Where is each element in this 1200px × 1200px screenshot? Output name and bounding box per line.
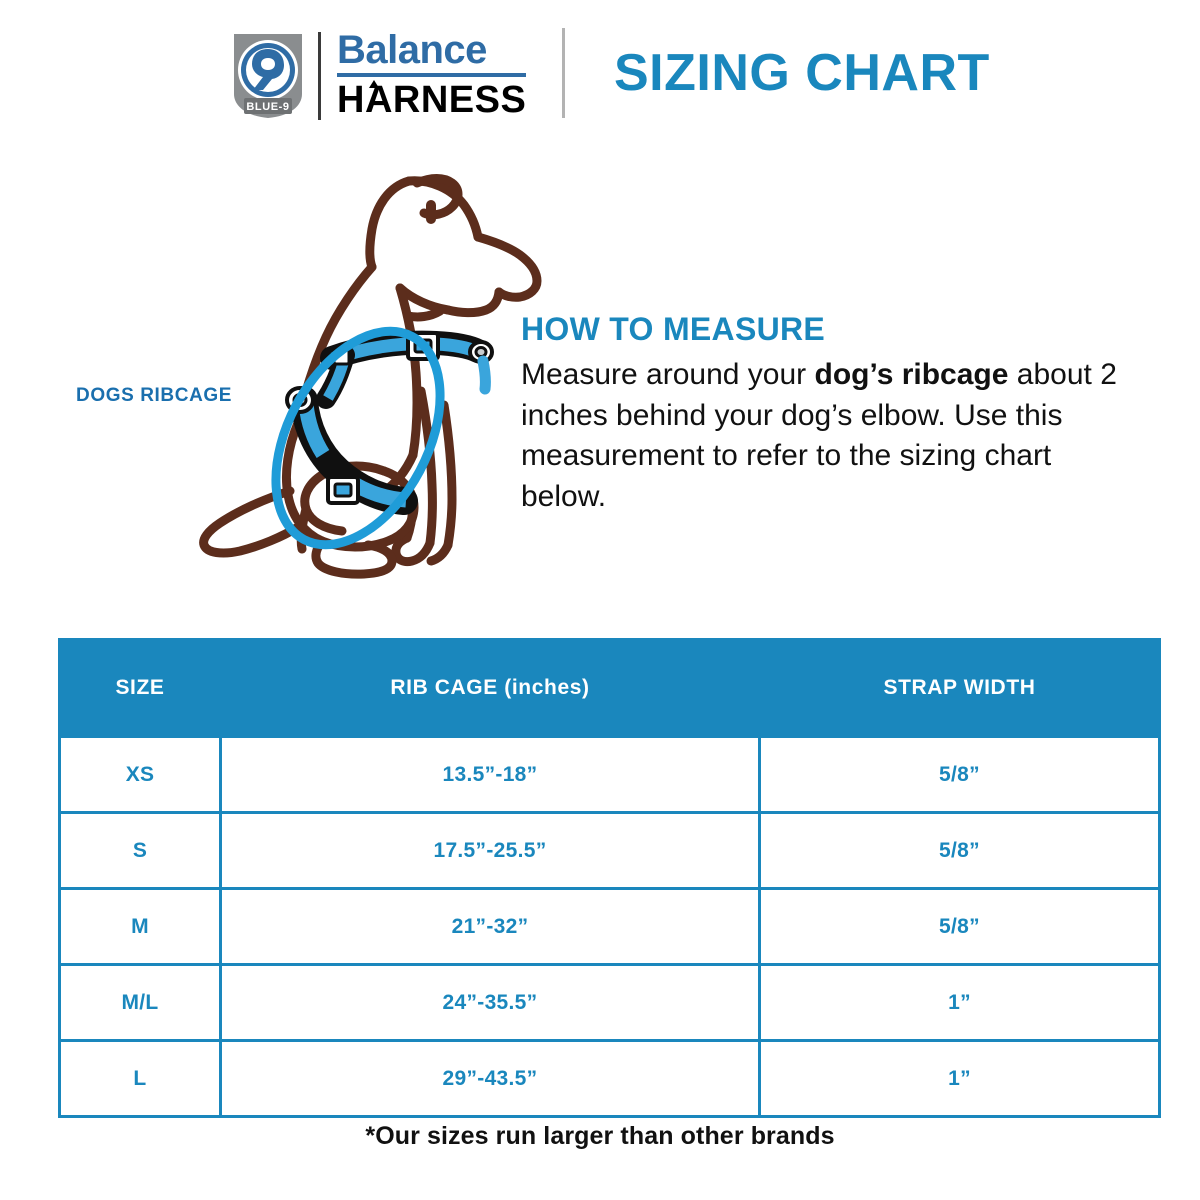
brand-wordmark: Balance HARNESS [337, 31, 526, 121]
how-to-measure-block: HOW TO MEASURE Measure around your dog’s… [521, 312, 1141, 517]
measure-line1-pre: Measure around your [521, 358, 815, 391]
cell-size: L [60, 1041, 221, 1117]
table-row: L 29”-43.5” 1” [60, 1041, 1160, 1117]
how-to-measure-body: Measure around your dog’s ribcage about … [521, 355, 1141, 517]
table-row: M/L 24”-35.5” 1” [60, 965, 1160, 1041]
cell-size: M/L [60, 965, 221, 1041]
header-divider [562, 28, 565, 118]
cell-rib-cage: 17.5”-25.5” [221, 813, 760, 889]
column-header-strap-width: STRAP WIDTH [760, 640, 1160, 737]
table-row: XS 13.5”-18” 5/8” [60, 737, 1160, 813]
cell-rib-cage: 21”-32” [221, 889, 760, 965]
page-title: SIZING CHART [614, 47, 990, 99]
page-header: BLUE-9 Balance HARNESS SIZING CHART [0, 0, 1200, 140]
brand-lockup-divider [318, 32, 321, 120]
column-header-rib-cage: RIB CAGE (inches) [221, 640, 760, 737]
dogs-ribcage-label: DOGS RIBCAGE [76, 385, 232, 407]
harness-accent-mark [369, 80, 379, 88]
brand-primary-text: Balance [337, 31, 526, 77]
sizing-table-body: XS 13.5”-18” 5/8” S 17.5”-25.5” 5/8” M 2… [60, 737, 1160, 1117]
measure-line1-emphasis: dog’s ribcage [815, 358, 1009, 391]
table-header-row: SIZE RIB CAGE (inches) STRAP WIDTH [60, 640, 1160, 737]
cell-rib-cage: 13.5”-18” [221, 737, 760, 813]
how-to-measure-heading: HOW TO MEASURE [521, 312, 1141, 347]
cell-size: S [60, 813, 221, 889]
cell-strap-width: 5/8” [760, 813, 1160, 889]
cell-strap-width: 1” [760, 1041, 1160, 1117]
cell-strap-width: 1” [760, 965, 1160, 1041]
sizing-table: SIZE RIB CAGE (inches) STRAP WIDTH XS 13… [58, 638, 1161, 1118]
blue9-logo-icon: BLUE-9 [232, 32, 304, 120]
table-row: S 17.5”-25.5” 5/8” [60, 813, 1160, 889]
cell-size: XS [60, 737, 221, 813]
svg-text:BLUE-9: BLUE-9 [246, 101, 289, 113]
cell-size: M [60, 889, 221, 965]
brand-secondary-label: HARNESS [337, 79, 526, 121]
cell-strap-width: 5/8” [760, 737, 1160, 813]
dog-harness-illustration [100, 155, 570, 605]
column-header-size: SIZE [60, 640, 221, 737]
table-row: M 21”-32” 5/8” [60, 889, 1160, 965]
cell-rib-cage: 24”-35.5” [221, 965, 760, 1041]
cell-rib-cage: 29”-43.5” [221, 1041, 760, 1117]
brand-secondary-text: HARNESS [337, 81, 526, 121]
cell-strap-width: 5/8” [760, 889, 1160, 965]
brand-lockup: BLUE-9 Balance HARNESS [232, 28, 526, 124]
sizing-footnote: *Our sizes run larger than other brands [0, 1122, 1200, 1151]
